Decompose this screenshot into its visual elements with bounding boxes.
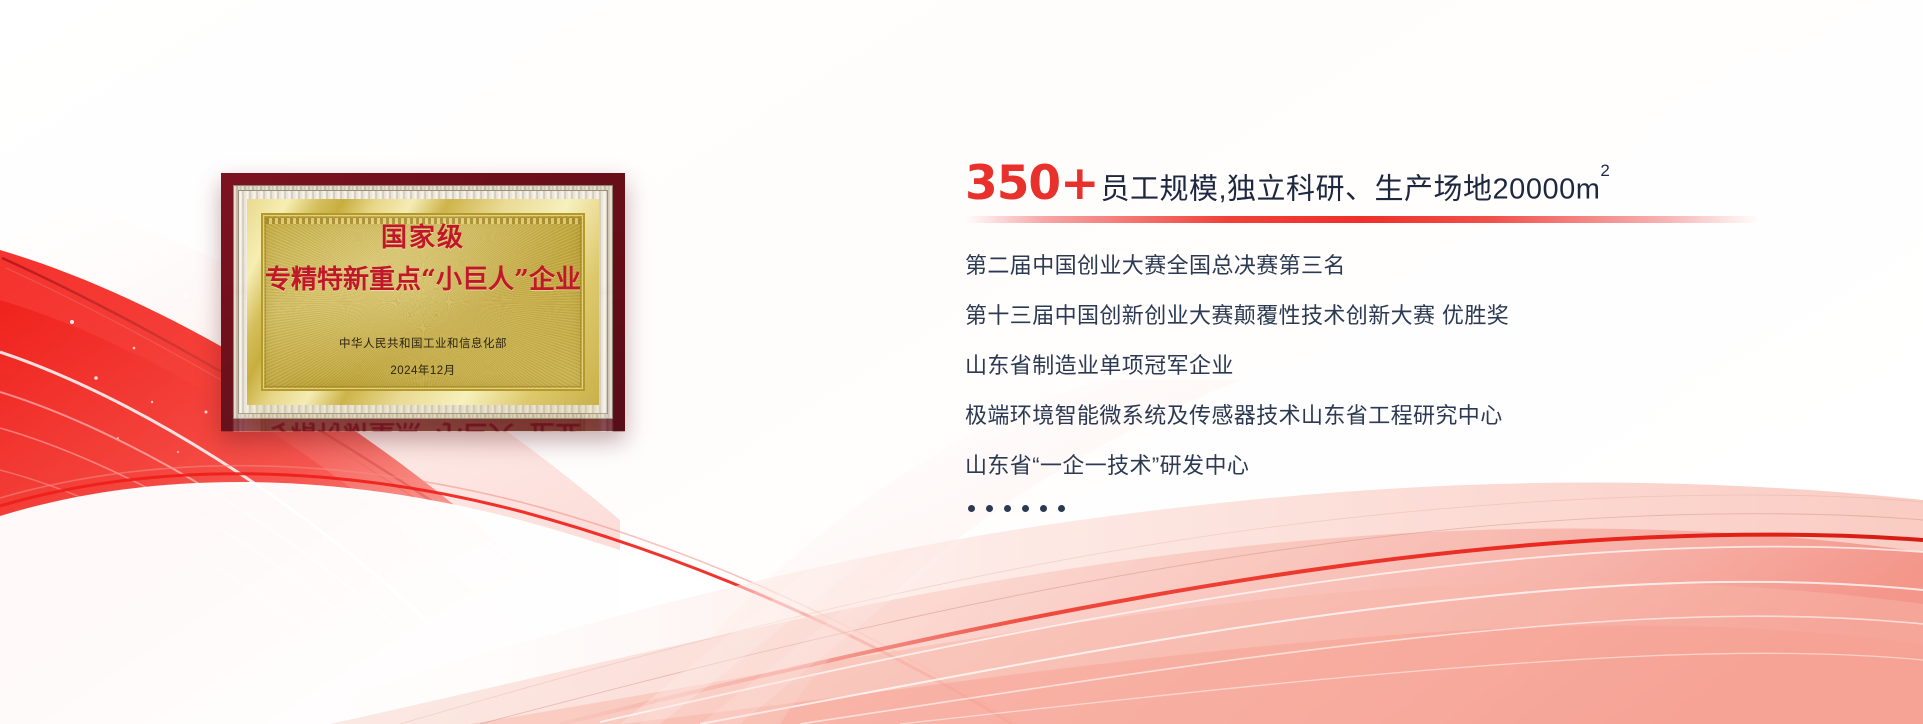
award-list-item: 山东省“一企一技术”研发中心 <box>965 455 1845 477</box>
award-list-item: 极端环境智能微系统及传感器技术山东省工程研究中心 <box>965 405 1845 427</box>
headline-stat-description: 员工规模,独立科研、生产场地20000m2 <box>1101 174 1611 205</box>
headline-stat-number: 350+ <box>965 160 1099 207</box>
headline: 350+ 员工规模,独立科研、生产场地20000m2 <box>965 160 1845 207</box>
plaque-title-line-2: 专精特新重点“小巨人”企业 <box>265 267 581 293</box>
headline-superscript: 2 <box>1600 161 1610 180</box>
plaque-text-block: 国家级 专精特新重点“小巨人”企业 中华人民共和国工业和信息化部 2024年12… <box>247 199 599 405</box>
award-list-item: 第二届中国创业大赛全国总决赛第三名 <box>965 255 1845 277</box>
award-plaque: 国家级 专精特新重点“小巨人”企业 中华人民共和国工业和信息化部 2024年12… <box>221 173 625 431</box>
ellipsis-dot <box>1022 505 1029 512</box>
award-list-item: 第十三届中国创新创业大赛颠覆性技术创新大赛 优胜奖 <box>965 305 1845 327</box>
ellipsis-dot <box>1004 505 1011 512</box>
award-list: 第二届中国创业大赛全国总决赛第三名 第十三届中国创新创业大赛颠覆性技术创新大赛 … <box>965 255 1845 512</box>
award-list-item: 山东省制造业单项冠军企业 <box>965 355 1845 377</box>
ellipsis-dots <box>968 505 1845 512</box>
plaque-title-line-1: 国家级 <box>381 225 465 251</box>
headline-underline-bar <box>965 216 1760 223</box>
plaque-date: 2024年12月 <box>390 362 455 378</box>
headline-description-text: 员工规模,独立科研、生产场地20000m <box>1101 174 1601 206</box>
banner-slide: 国家级 专精特新重点“小巨人”企业 中华人民共和国工业和信息化部 2024年12… <box>0 0 1923 724</box>
content-column: 350+ 员工规模,独立科研、生产场地20000m2 第二届中国创业大赛全国总决… <box>965 160 1845 512</box>
ellipsis-dot <box>968 505 975 512</box>
plaque-outer-frame: 国家级 专精特新重点“小巨人”企业 中华人民共和国工业和信息化部 2024年12… <box>221 173 625 431</box>
plaque-issuer: 中华人民共和国工业和信息化部 <box>339 335 507 351</box>
plaque-gold-bevel: 国家级 专精特新重点“小巨人”企业 中华人民共和国工业和信息化部 2024年12… <box>247 199 599 405</box>
ellipsis-dot <box>1058 505 1065 512</box>
ellipsis-dot <box>986 505 993 512</box>
ellipsis-dot <box>1040 505 1047 512</box>
